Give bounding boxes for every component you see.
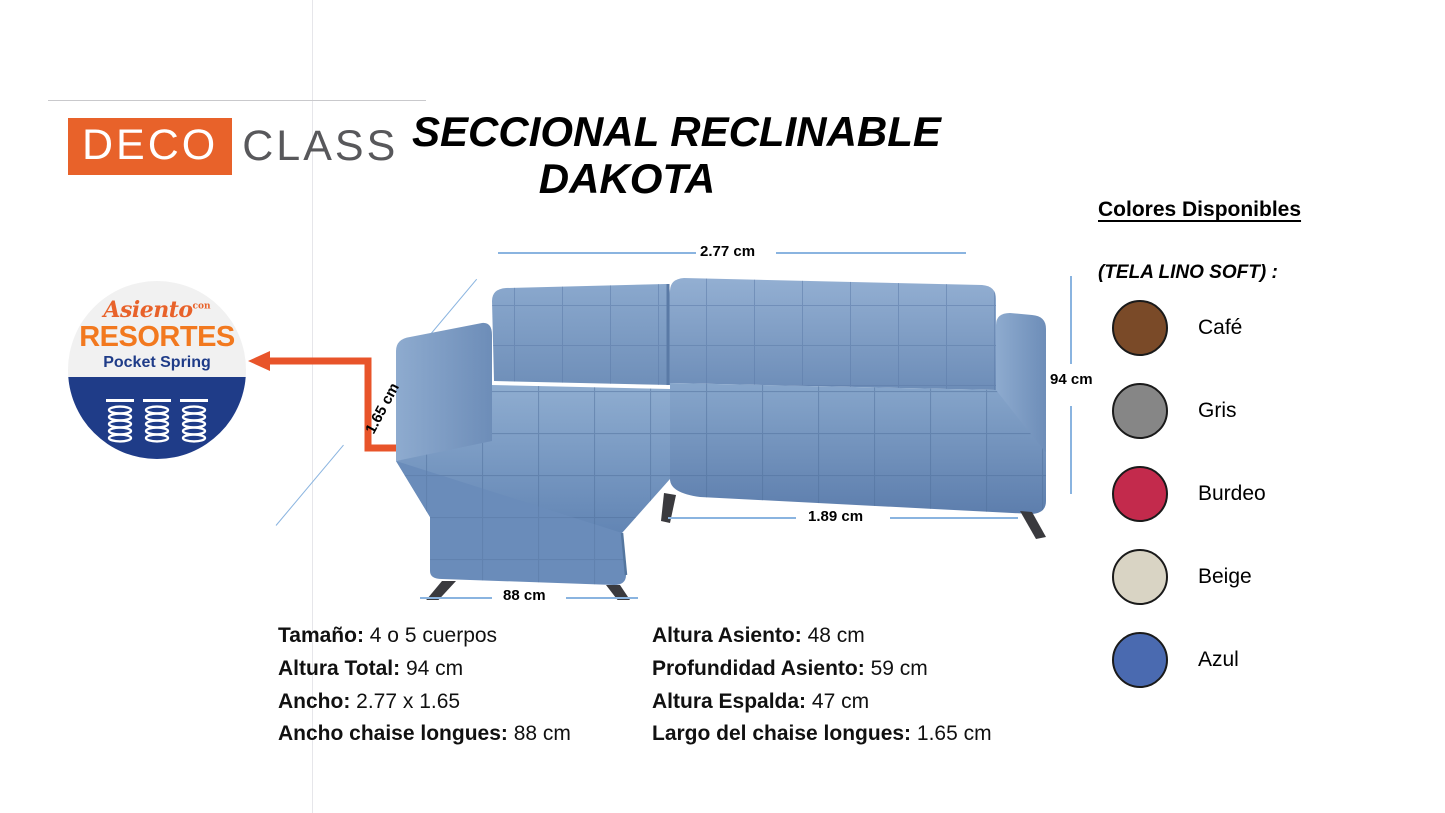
spec-label-largo-chaise: Largo del chaise longues:	[652, 722, 911, 745]
color-option-gris[interactable]: Gris	[1112, 383, 1237, 439]
spec-row-ancho-chaise: Ancho chaise longues: 88 cm	[278, 718, 571, 751]
dimline-seat-left	[668, 517, 796, 519]
spec-value-ancho: 2.77 x 1.65	[356, 690, 460, 713]
page-title: SECCIONAL RECLINABLE DAKOTA	[412, 108, 1052, 202]
spec-row-altura-asiento: Altura Asiento: 48 cm	[652, 620, 992, 653]
spring-top-bar	[106, 399, 134, 402]
badge-pocket-spring-text: Pocket Spring	[68, 354, 246, 372]
dimline-top-left	[498, 252, 696, 254]
spring-coil	[143, 399, 171, 445]
dimension-total-height: 94 cm	[1050, 371, 1093, 388]
badge-asiento-word: Asiento	[103, 297, 192, 323]
spec-label-ancho-chaise: Ancho chaise longues:	[278, 722, 508, 745]
color-swatch-cafe	[1112, 300, 1168, 356]
horizontal-rule	[48, 100, 426, 101]
spec-list-right: Altura Asiento: 48 cm Profundidad Asient…	[652, 620, 992, 751]
brand-logo-deco: DECO	[68, 118, 232, 175]
dimline-height-lower	[1070, 406, 1072, 494]
color-label-gris: Gris	[1198, 399, 1237, 423]
sofa-leg	[1020, 511, 1046, 539]
sofa-arm-left	[396, 323, 492, 461]
color-option-azul[interactable]: Azul	[1112, 632, 1239, 688]
color-option-beige[interactable]: Beige	[1112, 549, 1252, 605]
spec-value-altura-asiento: 48 cm	[808, 624, 865, 647]
product-sheet: DECO CLASS SECCIONAL RECLINABLE DAKOTA A…	[0, 0, 1445, 813]
color-option-cafe[interactable]: Café	[1112, 300, 1242, 356]
colors-heading: Colores Disponibles	[1098, 198, 1301, 222]
color-swatch-azul	[1112, 632, 1168, 688]
dimension-seat-width: 1.89 cm	[808, 508, 863, 525]
spec-value-ancho-chaise: 88 cm	[514, 722, 571, 745]
spec-label-altura-asiento: Altura Asiento:	[652, 624, 802, 647]
spec-row-altura-espalda: Altura Espalda: 47 cm	[652, 686, 992, 719]
coil-icon	[143, 405, 171, 445]
badge-asiento-text: Asientocon	[68, 297, 246, 323]
dimline-seat-right	[890, 517, 1018, 519]
spring-coils-group	[68, 399, 246, 445]
spec-label-altura-espalda: Altura Espalda:	[652, 690, 806, 713]
color-label-beige: Beige	[1198, 565, 1252, 589]
spec-value-profundidad-asiento: 59 cm	[871, 657, 928, 680]
spec-row-tamano: Tamaño: 4 o 5 cuerpos	[278, 620, 571, 653]
color-label-azul: Azul	[1198, 648, 1239, 672]
colors-fabric-label: (TELA LINO SOFT) :	[1098, 262, 1278, 284]
color-option-burdeo[interactable]: Burdeo	[1112, 466, 1266, 522]
spec-row-altura-total: Altura Total: 94 cm	[278, 653, 571, 686]
spec-value-altura-total: 94 cm	[406, 657, 463, 680]
pocket-spring-badge: Asientocon RESORTES Pocket Spring	[68, 281, 246, 459]
dimline-height-upper	[1070, 276, 1072, 364]
page-title-line2: DAKOTA	[412, 155, 1052, 202]
dimension-top-width: 2.77 cm	[700, 243, 755, 260]
dimline-chaise-left	[420, 597, 492, 599]
color-swatch-gris	[1112, 383, 1168, 439]
coil-icon	[106, 405, 134, 445]
brand-logo: DECO CLASS	[68, 118, 398, 175]
spec-label-ancho: Ancho:	[278, 690, 350, 713]
spring-top-bar	[180, 399, 208, 402]
spec-value-largo-chaise: 1.65 cm	[917, 722, 992, 745]
dimension-chaise-width: 88 cm	[503, 587, 546, 604]
spring-top-bar	[143, 399, 171, 402]
color-label-cafe: Café	[1198, 316, 1242, 340]
spec-list-left: Tamaño: 4 o 5 cuerpos Altura Total: 94 c…	[278, 620, 571, 751]
spec-value-tamano: 4 o 5 cuerpos	[370, 624, 497, 647]
color-swatch-beige	[1112, 549, 1168, 605]
page-title-line1: SECCIONAL RECLINABLE	[412, 108, 1052, 155]
brand-logo-class: CLASS	[242, 125, 398, 168]
spring-coil	[106, 399, 134, 445]
spec-label-profundidad-asiento: Profundidad Asiento:	[652, 657, 865, 680]
spring-coil	[180, 399, 208, 445]
spec-row-ancho: Ancho: 2.77 x 1.65	[278, 686, 571, 719]
dimline-top-right	[776, 252, 966, 254]
coil-icon	[180, 405, 208, 445]
spec-row-profundidad-asiento: Profundidad Asiento: 59 cm	[652, 653, 992, 686]
sofa-image	[370, 265, 1060, 600]
dimline-chaise-right	[566, 597, 638, 599]
spec-label-tamano: Tamaño:	[278, 624, 364, 647]
badge-con-word: con	[193, 302, 211, 312]
color-swatch-burdeo	[1112, 466, 1168, 522]
color-label-burdeo: Burdeo	[1198, 482, 1266, 506]
badge-resortes-text: RESORTES	[68, 321, 246, 354]
spec-row-largo-chaise: Largo del chaise longues: 1.65 cm	[652, 718, 992, 751]
spec-label-altura-total: Altura Total:	[278, 657, 400, 680]
spec-value-altura-espalda: 47 cm	[812, 690, 869, 713]
